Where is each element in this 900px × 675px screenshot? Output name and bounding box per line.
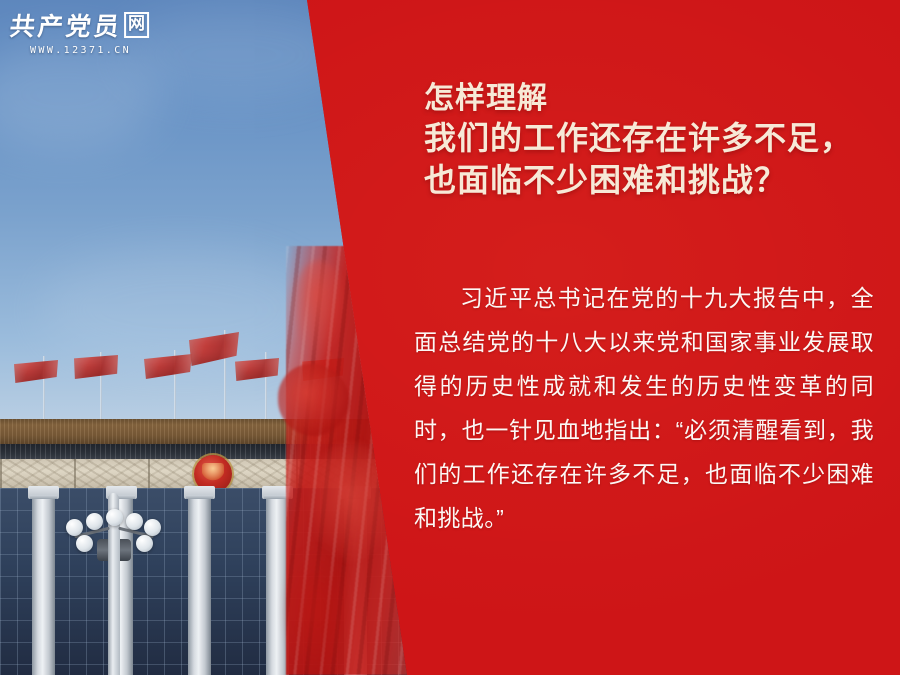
headline-line-3: 也面临不少困难和挑战？	[424, 160, 876, 202]
street-lamp	[64, 487, 160, 675]
headline-line-2: 我们的工作还存在许多不足，	[424, 118, 876, 160]
site-logo[interactable]: 共产党员网 WWW.12371.CN	[10, 12, 160, 64]
poster-canvas: 共产党员网 WWW.12371.CN 怎样理解 我们的工作还存在许多不足， 也面…	[0, 0, 900, 675]
logo-brush-text: 共产党员网	[8, 12, 161, 39]
logo-boxed-char: 网	[124, 12, 149, 38]
body-paragraph: 习近平总书记在党的十九大报告中，全面总结党的十八大以来党和国家事业发展取得的历史…	[414, 276, 874, 540]
logo-brush-chars: 共产党员	[8, 12, 124, 41]
logo-url: WWW.12371.CN	[10, 45, 160, 56]
headline: 怎样理解 我们的工作还存在许多不足， 也面临不少困难和挑战？	[424, 79, 876, 201]
headline-line-1: 怎样理解	[424, 79, 876, 118]
